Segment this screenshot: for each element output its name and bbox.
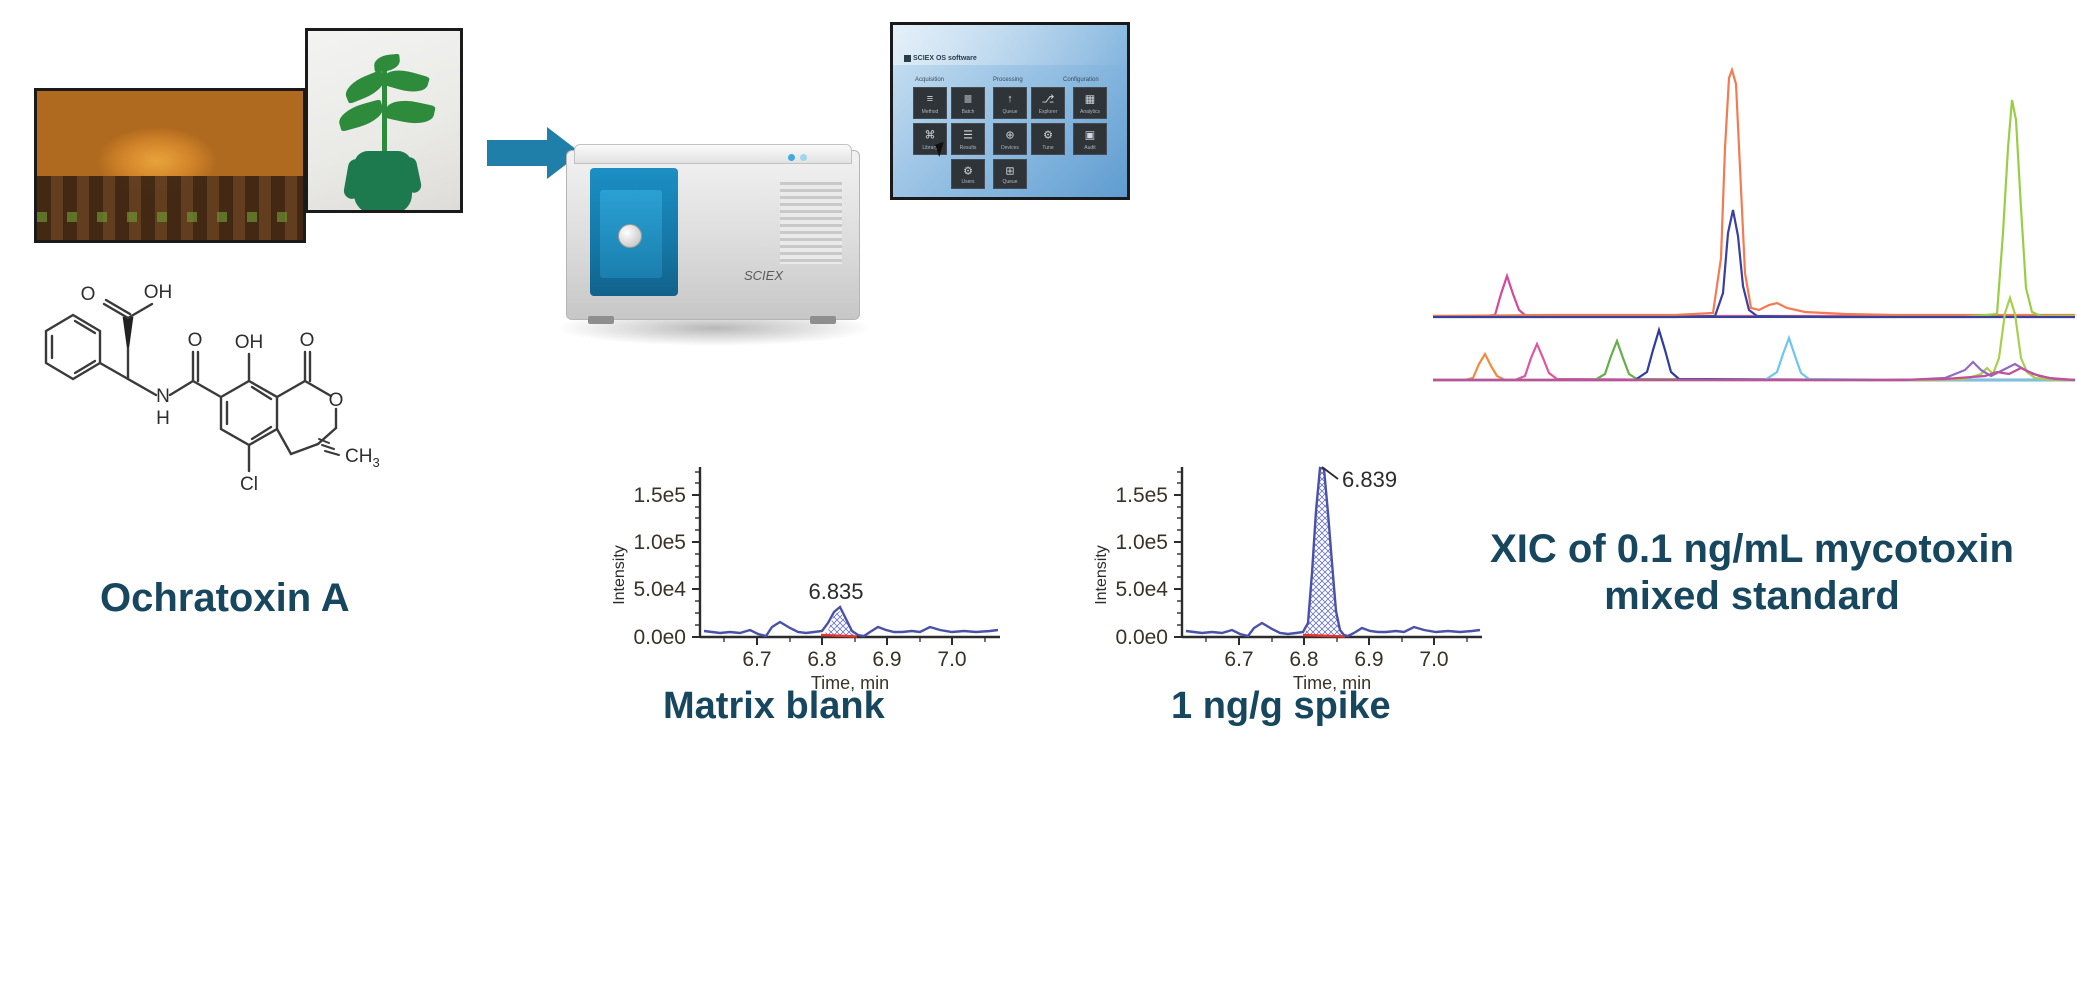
x-tick-0: 6.7 [742,648,771,671]
x-tick-0: 6.7 [1224,648,1253,671]
software-tile[interactable]: ▦ Analytics [1073,87,1107,119]
x-tick-2: 6.9 [1354,648,1383,671]
phenol-oh-label: OH [235,332,264,353]
tile-caption: Devices [994,145,1026,151]
xic-mixed-standard-chart [1425,58,2077,388]
y-tick-0: 0.0e0 [633,626,686,649]
y-tick-3: 1.5e5 [633,484,686,507]
amide-h-label: H [156,408,170,429]
y-tick-2: 1.0e5 [633,531,686,554]
tile-caption: Analytics [1074,109,1106,115]
software-tile[interactable]: ≣ Batch [951,87,985,119]
y-tick-0: 0.0e0 [1115,626,1168,649]
explorer-icon: ⎇ [1042,93,1055,106]
queue-icon: ↑ [1007,93,1013,105]
xic-trace-pink [1433,276,2075,316]
software-tile[interactable]: ⎇ Explorer [1031,87,1065,119]
instrument-knob [618,224,642,248]
peak-baseline [1303,635,1345,637]
software-tile[interactable]: ≡ Method [913,87,947,119]
ring-o-label: O [329,390,344,411]
software-title-icon [904,55,911,62]
x-tick-2: 6.9 [872,648,901,671]
basket-rim [37,176,303,240]
x-tick-3: 7.0 [1419,648,1448,671]
software-tile[interactable]: ⊞ Queue [993,159,1027,189]
results-icon: ☰ [963,129,973,142]
software-tablet-photo: SCIEX OS software Acquisition Processing… [890,22,1130,200]
x-tick-1: 6.8 [807,648,836,671]
tile-caption: Queue [994,109,1026,115]
software-tile[interactable]: ⊕ Devices [993,123,1027,155]
tile-caption: Audit [1074,145,1106,151]
group-label-processing: Processing [993,77,1023,83]
y-tick-1: 5.0e4 [1115,578,1168,601]
tile-caption: Results [952,145,984,151]
instrument-led [800,154,807,161]
hydroxyl-oh-label: OH [144,282,173,303]
instrument-top-cover [574,144,852,164]
matrix-blank-chart: 0.0e0 5.0e4 1.0e5 1.5e5 6.7 6.8 6.9 7.0 … [600,455,1020,695]
group-label-acquisition: Acquisition [915,77,944,83]
y-tick-3: 1.5e5 [1115,484,1168,507]
tile-caption: Batch [952,109,984,115]
peak-rt-label: 6.839 [1342,467,1397,492]
carbonyl-o-label: O [81,284,96,305]
lactone-o-label: O [300,330,315,351]
matrix-blank-caption: Matrix blank [663,685,885,728]
xic-trace-orange [1433,70,2075,316]
basket-lettuce [37,212,303,222]
xic-caption-line2: mixed standard [1432,573,2072,620]
tune-icon: ⚙ [1043,129,1053,142]
queue-panel-icon: ⊞ [1005,164,1014,177]
analytics-icon: ▦ [1085,93,1095,106]
xic-trace-blue [1433,210,2075,317]
chromatogram-trace [704,607,998,636]
spike-caption: 1 ng/g spike [1171,685,1391,728]
peak-rt-label: 6.835 [808,579,863,604]
method-icon: ≡ [927,93,933,105]
devices-icon: ⊕ [1005,129,1014,142]
software-tile[interactable]: ☰ Results [951,123,985,155]
y-tick-2: 1.0e5 [1115,531,1168,554]
software-title: SCIEX OS software [913,55,977,62]
chlorine-label: Cl [240,474,258,495]
tile-caption: Users [952,179,984,185]
audit-icon: ▣ [1085,129,1095,142]
software-tile[interactable]: ↑ Queue [993,87,1027,119]
instrument-foot [588,316,614,324]
amide-o-label: O [188,330,203,351]
software-tile[interactable]: ▣ Audit [1073,123,1107,155]
xic-lower-trace-darkblue [1433,330,2075,380]
tile-caption: Tune [1032,145,1064,151]
batch-icon: ≣ [963,93,972,106]
xic-trace-green [1433,100,2075,317]
seedling-photo [305,28,463,213]
process-arrow-shaft [487,140,547,166]
structure-name-label: Ochratoxin A [100,576,350,621]
y-axis-label: Intensity [1093,545,1110,605]
tile-caption: Explorer [1032,109,1064,115]
group-label-configuration: Configuration [1063,77,1099,83]
library-icon: ⌘ [925,129,936,142]
software-tile[interactable]: ⚙ Tune [1031,123,1065,155]
plant-leaf [384,96,436,127]
y-tick-1: 5.0e4 [633,578,686,601]
x-tick-3: 7.0 [937,648,966,671]
instrument-foot [810,316,836,324]
instrument-brand-logo: SCIEX [744,268,783,283]
lc-ms-instrument: SCIEX [548,128,878,343]
peak-baseline [821,635,857,637]
instrument-led [788,154,795,161]
ochratoxin-a-structure: O OH N H O OH O O Cl CH3 [18,268,408,558]
software-tile[interactable]: ⚙ Users [951,159,985,189]
plant-leaf [336,99,386,132]
tile-caption: Method [914,109,946,115]
instrument-vent [780,182,842,264]
tile-caption: Queue [994,179,1026,185]
xic-caption: XIC of 0.1 ng/mL mycotoxin mixed standar… [1432,526,2072,620]
methyl-label: CH3 [345,446,380,470]
amide-n-label: N [156,386,170,407]
x-tick-1: 6.8 [1289,648,1318,671]
y-axis-label: Intensity [611,545,628,605]
fried-chicken-photo [34,88,306,243]
xic-caption-line1: XIC of 0.1 ng/mL mycotoxin [1432,526,2072,573]
users-icon: ⚙ [963,164,973,177]
